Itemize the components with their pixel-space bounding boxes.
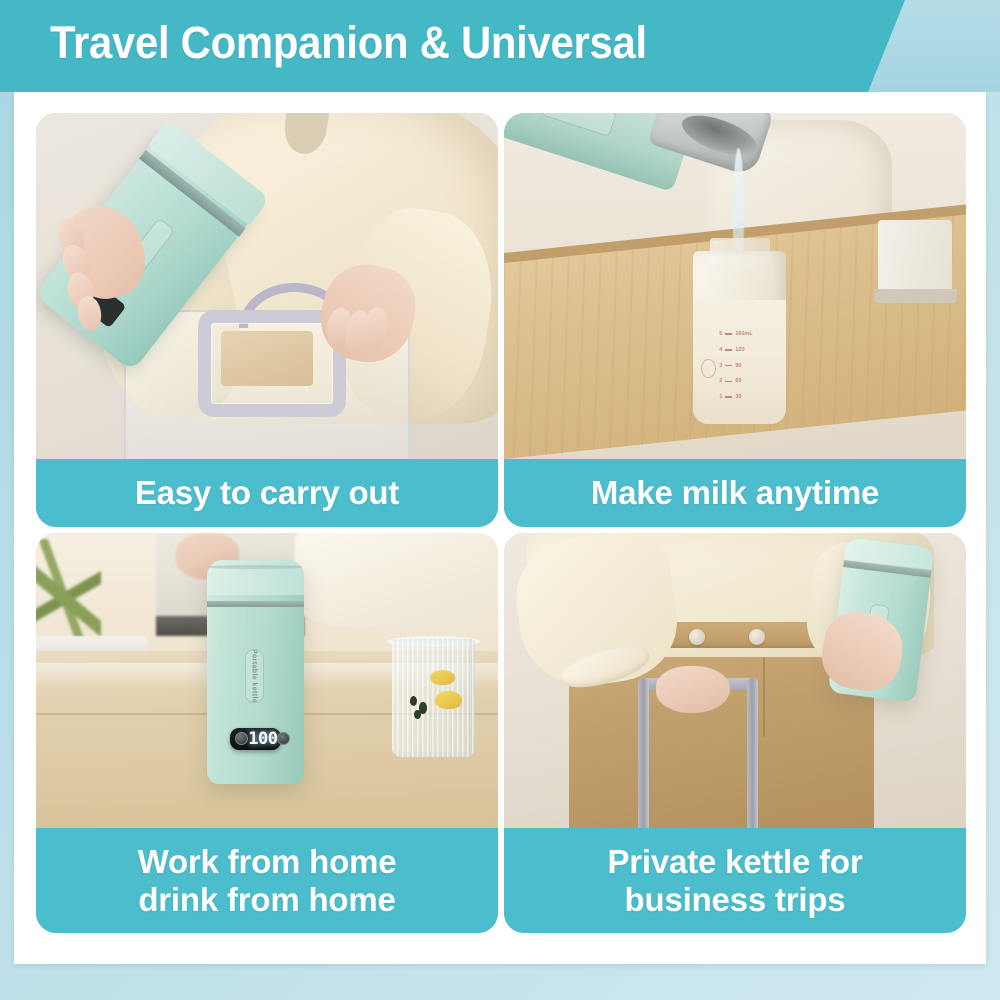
scale-oz: 4: [719, 347, 722, 353]
scale-tick: [725, 381, 732, 383]
caption-line: Work from home: [138, 843, 397, 881]
waist-button: [749, 629, 765, 645]
feature-card-make-milk-anytime: 5 160mL 4 120 3 90: [504, 113, 966, 527]
hand-gripping-handle: [656, 666, 730, 713]
kettle-label: [541, 113, 618, 137]
caption-line: business trips: [625, 881, 846, 919]
caption-line: drink from home: [138, 881, 395, 919]
luggage-post: [638, 678, 649, 828]
scale-ml: 160mL: [735, 331, 752, 337]
scale-tick: [725, 365, 732, 367]
scale-row: 5 160mL: [719, 331, 773, 337]
baby-bottle: 5 160mL 4 120 3 90: [693, 251, 785, 424]
lemon-slice: [430, 670, 455, 685]
scale-row: 3 90: [719, 363, 773, 369]
photo-work-from-home: Portable kettle 100: [36, 533, 498, 828]
caption-business-trips: Private kettle for business trips: [504, 828, 966, 933]
scale-tick: [725, 333, 732, 335]
feature-grid: Easy to carry out: [36, 113, 966, 951]
kettle-control-panel[interactable]: 100: [230, 728, 280, 750]
waist-button: [689, 629, 705, 645]
kettle-lid-seam: [209, 565, 302, 568]
scale-ml: 30: [735, 394, 741, 400]
scale-row: 4 120: [719, 347, 773, 353]
lemon-slice: [435, 691, 462, 709]
scale-ml: 60: [735, 378, 741, 384]
caption-line: Make milk anytime: [591, 474, 879, 512]
scale-row: 2 60: [719, 378, 773, 384]
scale-ml: 120: [735, 347, 744, 353]
page-title: Travel Companion & Universal: [50, 17, 647, 69]
scale-tick: [725, 396, 732, 398]
caption-line: Private kettle for: [607, 843, 862, 881]
photo-business-trips: 100: [504, 533, 966, 828]
caption-make-milk-anytime: Make milk anytime: [504, 459, 966, 527]
cup-base: [874, 289, 957, 303]
scale-ml: 90: [735, 363, 741, 369]
feature-card-work-from-home: Portable kettle 100 Work from home drink…: [36, 533, 498, 933]
bottle-stamp: [701, 359, 716, 378]
temperature-button-icon[interactable]: [235, 732, 248, 745]
fruit-water-glass: [392, 639, 475, 757]
caption-work-from-home: Work from home drink from home: [36, 828, 498, 933]
scale-tick: [725, 349, 732, 351]
scale-row: 1 30: [719, 394, 773, 400]
scale-oz: 1: [719, 394, 722, 400]
feature-card-business-trips: 100 Private kettle for business trips: [504, 533, 966, 933]
scale-oz: 3: [719, 363, 722, 369]
power-button-icon[interactable]: [277, 732, 290, 745]
berry: [414, 710, 421, 719]
kettle-ring: [207, 601, 304, 607]
portable-kettle: Portable kettle 100: [207, 560, 304, 784]
curtain: [295, 533, 498, 627]
kettle-brand-text: Portable kettle: [251, 649, 258, 703]
feature-card-easy-to-carry-out: Easy to carry out: [36, 113, 498, 527]
background-cup: [878, 220, 952, 300]
scale-oz: 2: [719, 378, 722, 384]
product-feature-poster: Travel Companion & Universal: [0, 0, 1000, 1000]
header-banner: Travel Companion & Universal: [0, 0, 1000, 92]
caption-line: Easy to carry out: [135, 474, 399, 512]
kettle-brand-label: Portable kettle: [245, 649, 264, 703]
caption-easy-to-carry-out: Easy to carry out: [36, 459, 498, 527]
luggage-post: [747, 678, 758, 828]
photo-make-milk-anytime: 5 160mL 4 120 3 90: [504, 113, 966, 459]
scale-oz: 5: [719, 331, 722, 337]
photo-easy-to-carry-out: [36, 113, 498, 459]
glass-ribs: [392, 639, 475, 757]
bottle-measurement-scale: 5 160mL 4 120 3 90: [719, 331, 773, 400]
trouser-seam: [763, 648, 765, 737]
temperature-display: 100: [248, 729, 277, 749]
